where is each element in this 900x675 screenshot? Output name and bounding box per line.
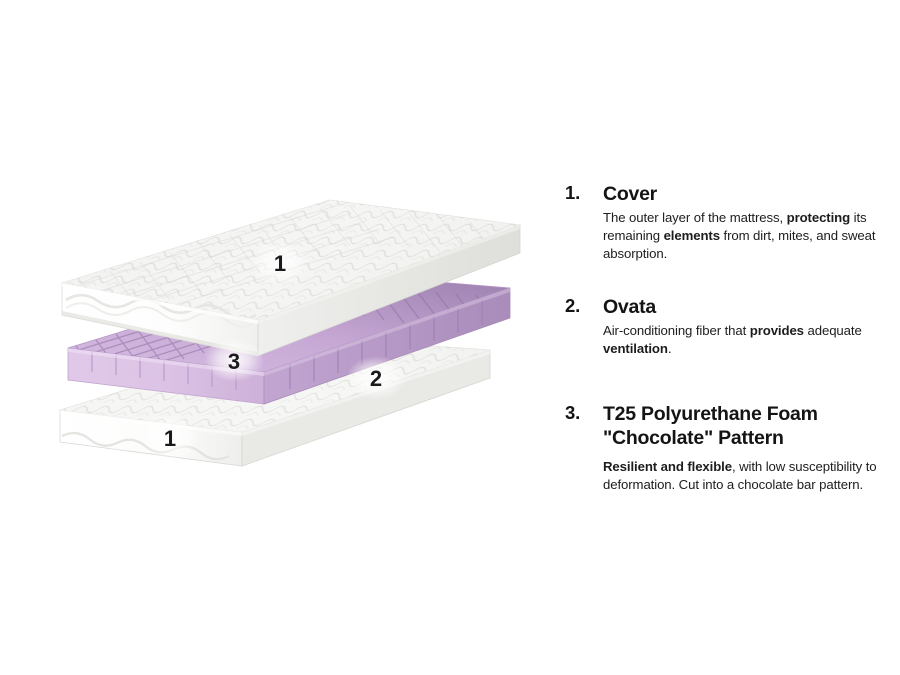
legend-body-1: Cover The outer layer of the mattress, p… <box>603 182 895 263</box>
desc-emphasis: provides <box>750 323 804 338</box>
legend-desc-3: Resilient and flexible, with low suscept… <box>603 458 895 494</box>
legend-item-foam: 3. T25 Polyurethane Foam "Chocolate" Pat… <box>565 402 895 493</box>
layer-label-foam: 3 <box>228 349 240 374</box>
desc-text: Air-conditioning fiber that <box>603 323 750 338</box>
desc-emphasis: ventilation <box>603 341 668 356</box>
legend-number-2: 2. <box>565 295 603 316</box>
legend-item-ovata: 2. Ovata Air-conditioning fiber that pro… <box>565 295 895 358</box>
desc-emphasis: elements <box>664 228 720 243</box>
legend-desc-1: The outer layer of the mattress, protect… <box>603 209 895 262</box>
legend-number-3: 3. <box>565 402 603 423</box>
desc-emphasis: Resilient and flexible <box>603 459 732 474</box>
mattress-exploded-diagram: 1 2 3 1 <box>0 0 545 675</box>
layer-label-ovata: 2 <box>370 366 382 391</box>
legend-panel: 1. Cover The outer layer of the mattress… <box>560 0 900 675</box>
desc-text: . <box>668 341 672 356</box>
legend-body-2: Ovata Air-conditioning fiber that provid… <box>603 295 895 358</box>
desc-text: Cut into a chocolate bar pattern. <box>675 477 863 492</box>
legend-number-1: 1. <box>565 182 603 203</box>
legend-item-cover: 1. Cover The outer layer of the mattress… <box>565 182 895 263</box>
desc-text: The outer layer of the mattress, <box>603 210 787 225</box>
layer-label-cover: 1 <box>274 251 286 276</box>
legend-title-2: Ovata <box>603 295 895 319</box>
legend-body-3: T25 Polyurethane Foam "Chocolate" Patter… <box>603 402 895 493</box>
desc-text: adequate <box>804 323 862 338</box>
layer-label-base: 1 <box>164 426 176 451</box>
legend-title-1: Cover <box>603 182 895 206</box>
desc-emphasis: protecting <box>787 210 850 225</box>
legend-title-3: T25 Polyurethane Foam "Chocolate" Patter… <box>603 402 895 451</box>
legend-desc-2: Air-conditioning fiber that provides ade… <box>603 322 895 358</box>
